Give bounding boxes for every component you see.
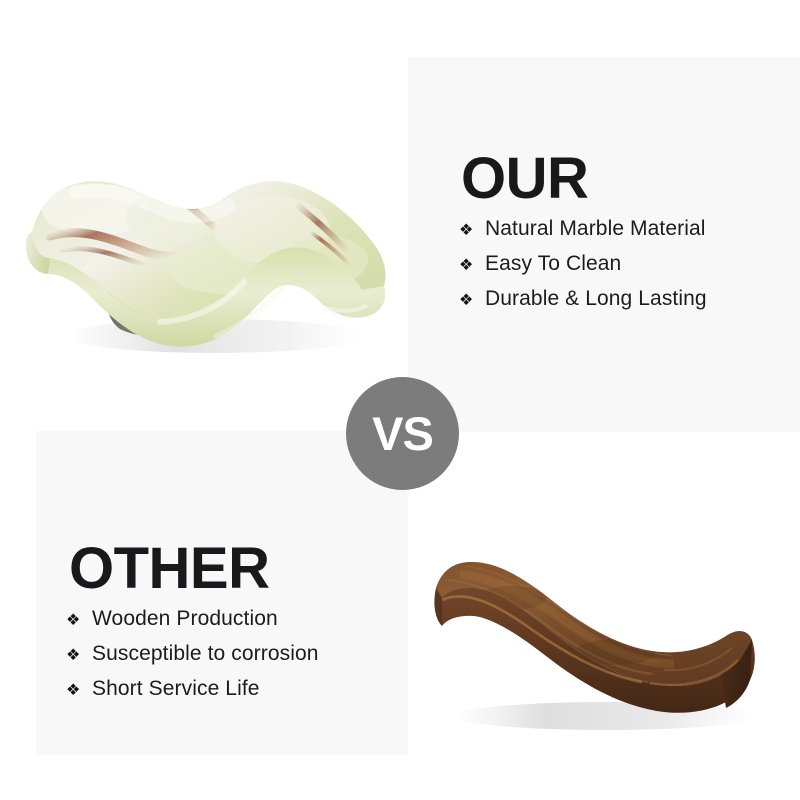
other-feature-item-1: ❖ Wooden Production	[66, 607, 319, 642]
other-feature-label: Wooden Production	[92, 607, 278, 631]
other-feature-label: Short Service Life	[92, 677, 260, 701]
our-feature-label: Natural Marble Material	[485, 217, 706, 241]
wooden-rest-illustration	[420, 540, 770, 740]
wooden-chopstick-rest-image	[420, 540, 770, 740]
our-feature-label: Durable & Long Lasting	[485, 287, 707, 311]
other-feature-label: Susceptible to corrosion	[92, 642, 319, 666]
diamond-bullet-icon: ❖	[66, 683, 92, 699]
other-feature-item-2: ❖ Susceptible to corrosion	[66, 642, 319, 677]
our-heading: OUR	[461, 150, 588, 208]
our-feature-item-1: ❖ Natural Marble Material	[459, 217, 707, 252]
diamond-bullet-icon: ❖	[66, 648, 92, 664]
diamond-bullet-icon: ❖	[459, 258, 485, 274]
our-feature-item-3: ❖ Durable & Long Lasting	[459, 287, 707, 322]
marble-chopstick-rest-image	[10, 140, 400, 370]
our-feature-item-2: ❖ Easy To Clean	[459, 252, 707, 287]
vs-badge: VS	[346, 377, 459, 490]
our-feature-list: ❖ Natural Marble Material ❖ Easy To Clea…	[459, 217, 707, 322]
diamond-bullet-icon: ❖	[459, 293, 485, 309]
comparison-graphic: OUR ❖ Natural Marble Material ❖ Easy To …	[0, 0, 800, 800]
diamond-bullet-icon: ❖	[66, 613, 92, 629]
other-feature-item-3: ❖ Short Service Life	[66, 677, 319, 712]
marble-rest-illustration	[10, 140, 400, 370]
diamond-bullet-icon: ❖	[459, 223, 485, 239]
our-feature-label: Easy To Clean	[485, 252, 621, 276]
other-heading: OTHER	[69, 540, 270, 598]
vs-label: VS	[372, 410, 433, 457]
other-feature-list: ❖ Wooden Production ❖ Susceptible to cor…	[66, 607, 319, 712]
